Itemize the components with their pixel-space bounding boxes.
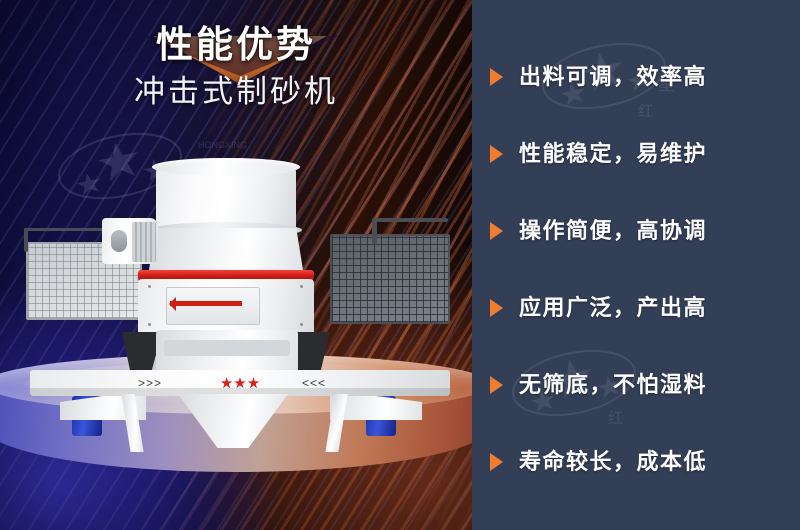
feature-item-6[interactable]: 寿命较长，成本低 [490, 447, 707, 477]
rotor-chamber [138, 279, 314, 335]
triangle-bullet-icon [490, 222, 503, 240]
feature-item-label: 无筛底，不怕湿料 [519, 374, 707, 396]
upper-cone-housing [148, 228, 304, 276]
right-platform [330, 234, 450, 324]
left-chevron-marks: >>> [138, 376, 162, 390]
page-subtitle: 冲击式制砂机 [0, 76, 472, 107]
feature-item-label: 寿命较长，成本低 [519, 451, 707, 473]
feature-item-5[interactable]: 无筛底，不怕湿料 [490, 370, 707, 400]
feature-item-1[interactable]: 出料可调，效率高 [490, 62, 707, 92]
red-direction-arrow [170, 301, 242, 306]
feature-item-label: 应用广泛，产出高 [519, 297, 707, 319]
feature-item-label: 性能稳定，易维护 [519, 143, 707, 165]
right-leg [325, 394, 347, 452]
red-star-emblem: ★★★ [180, 374, 300, 392]
product-feature-banner: 红 星 HONGXING 性能优势 冲击式制砂机 [0, 0, 800, 530]
feature-item-4[interactable]: 应用广泛，产出高 [490, 293, 707, 323]
feed-hopper [152, 158, 300, 234]
triangle-bullet-icon [490, 145, 503, 163]
main-support-beam: >>> ★★★ <<< [30, 370, 450, 396]
product-visual-panel: 红 星 HONGXING 性能优势 冲击式制砂机 [0, 0, 472, 530]
inspection-panel [166, 287, 260, 325]
feature-item-label: 操作简便，高协调 [519, 220, 707, 242]
right-chevron-marks: <<< [302, 376, 326, 390]
drive-motor-housing [102, 218, 158, 264]
feature-item-2[interactable]: 性能稳定，易维护 [490, 139, 707, 169]
motor-cooling-fins [132, 222, 156, 262]
motor-port [111, 230, 127, 252]
left-rail-post [24, 228, 28, 252]
svg-text:红: 红 [608, 409, 623, 427]
triangle-bullet-icon [490, 376, 503, 394]
triangle-bullet-icon [490, 299, 503, 317]
hopper-rim [152, 158, 300, 176]
right-rail-bar [372, 218, 448, 222]
feature-item-3[interactable]: 操作简便，高协调 [490, 216, 707, 246]
right-platform-mesh [330, 234, 450, 324]
discharge-cone [178, 394, 288, 448]
triangle-bullet-icon [490, 453, 503, 471]
svg-text:红: 红 [638, 102, 653, 120]
feature-item-label: 出料可调，效率高 [519, 66, 707, 88]
feature-list-panel: 红 星 红 出料可调，效率高性能稳定，易维护操作简便，高协调应用广泛，产出高无筛… [472, 0, 800, 530]
lower-housing-band [164, 340, 290, 356]
vsi-sand-making-machine-image: >>> ★★★ <<< [30, 150, 450, 450]
page-title: 性能优势 [0, 26, 472, 63]
lower-housing [156, 330, 298, 372]
triangle-bullet-icon [490, 68, 503, 86]
title-block: 性能优势 冲击式制砂机 [0, 26, 472, 107]
